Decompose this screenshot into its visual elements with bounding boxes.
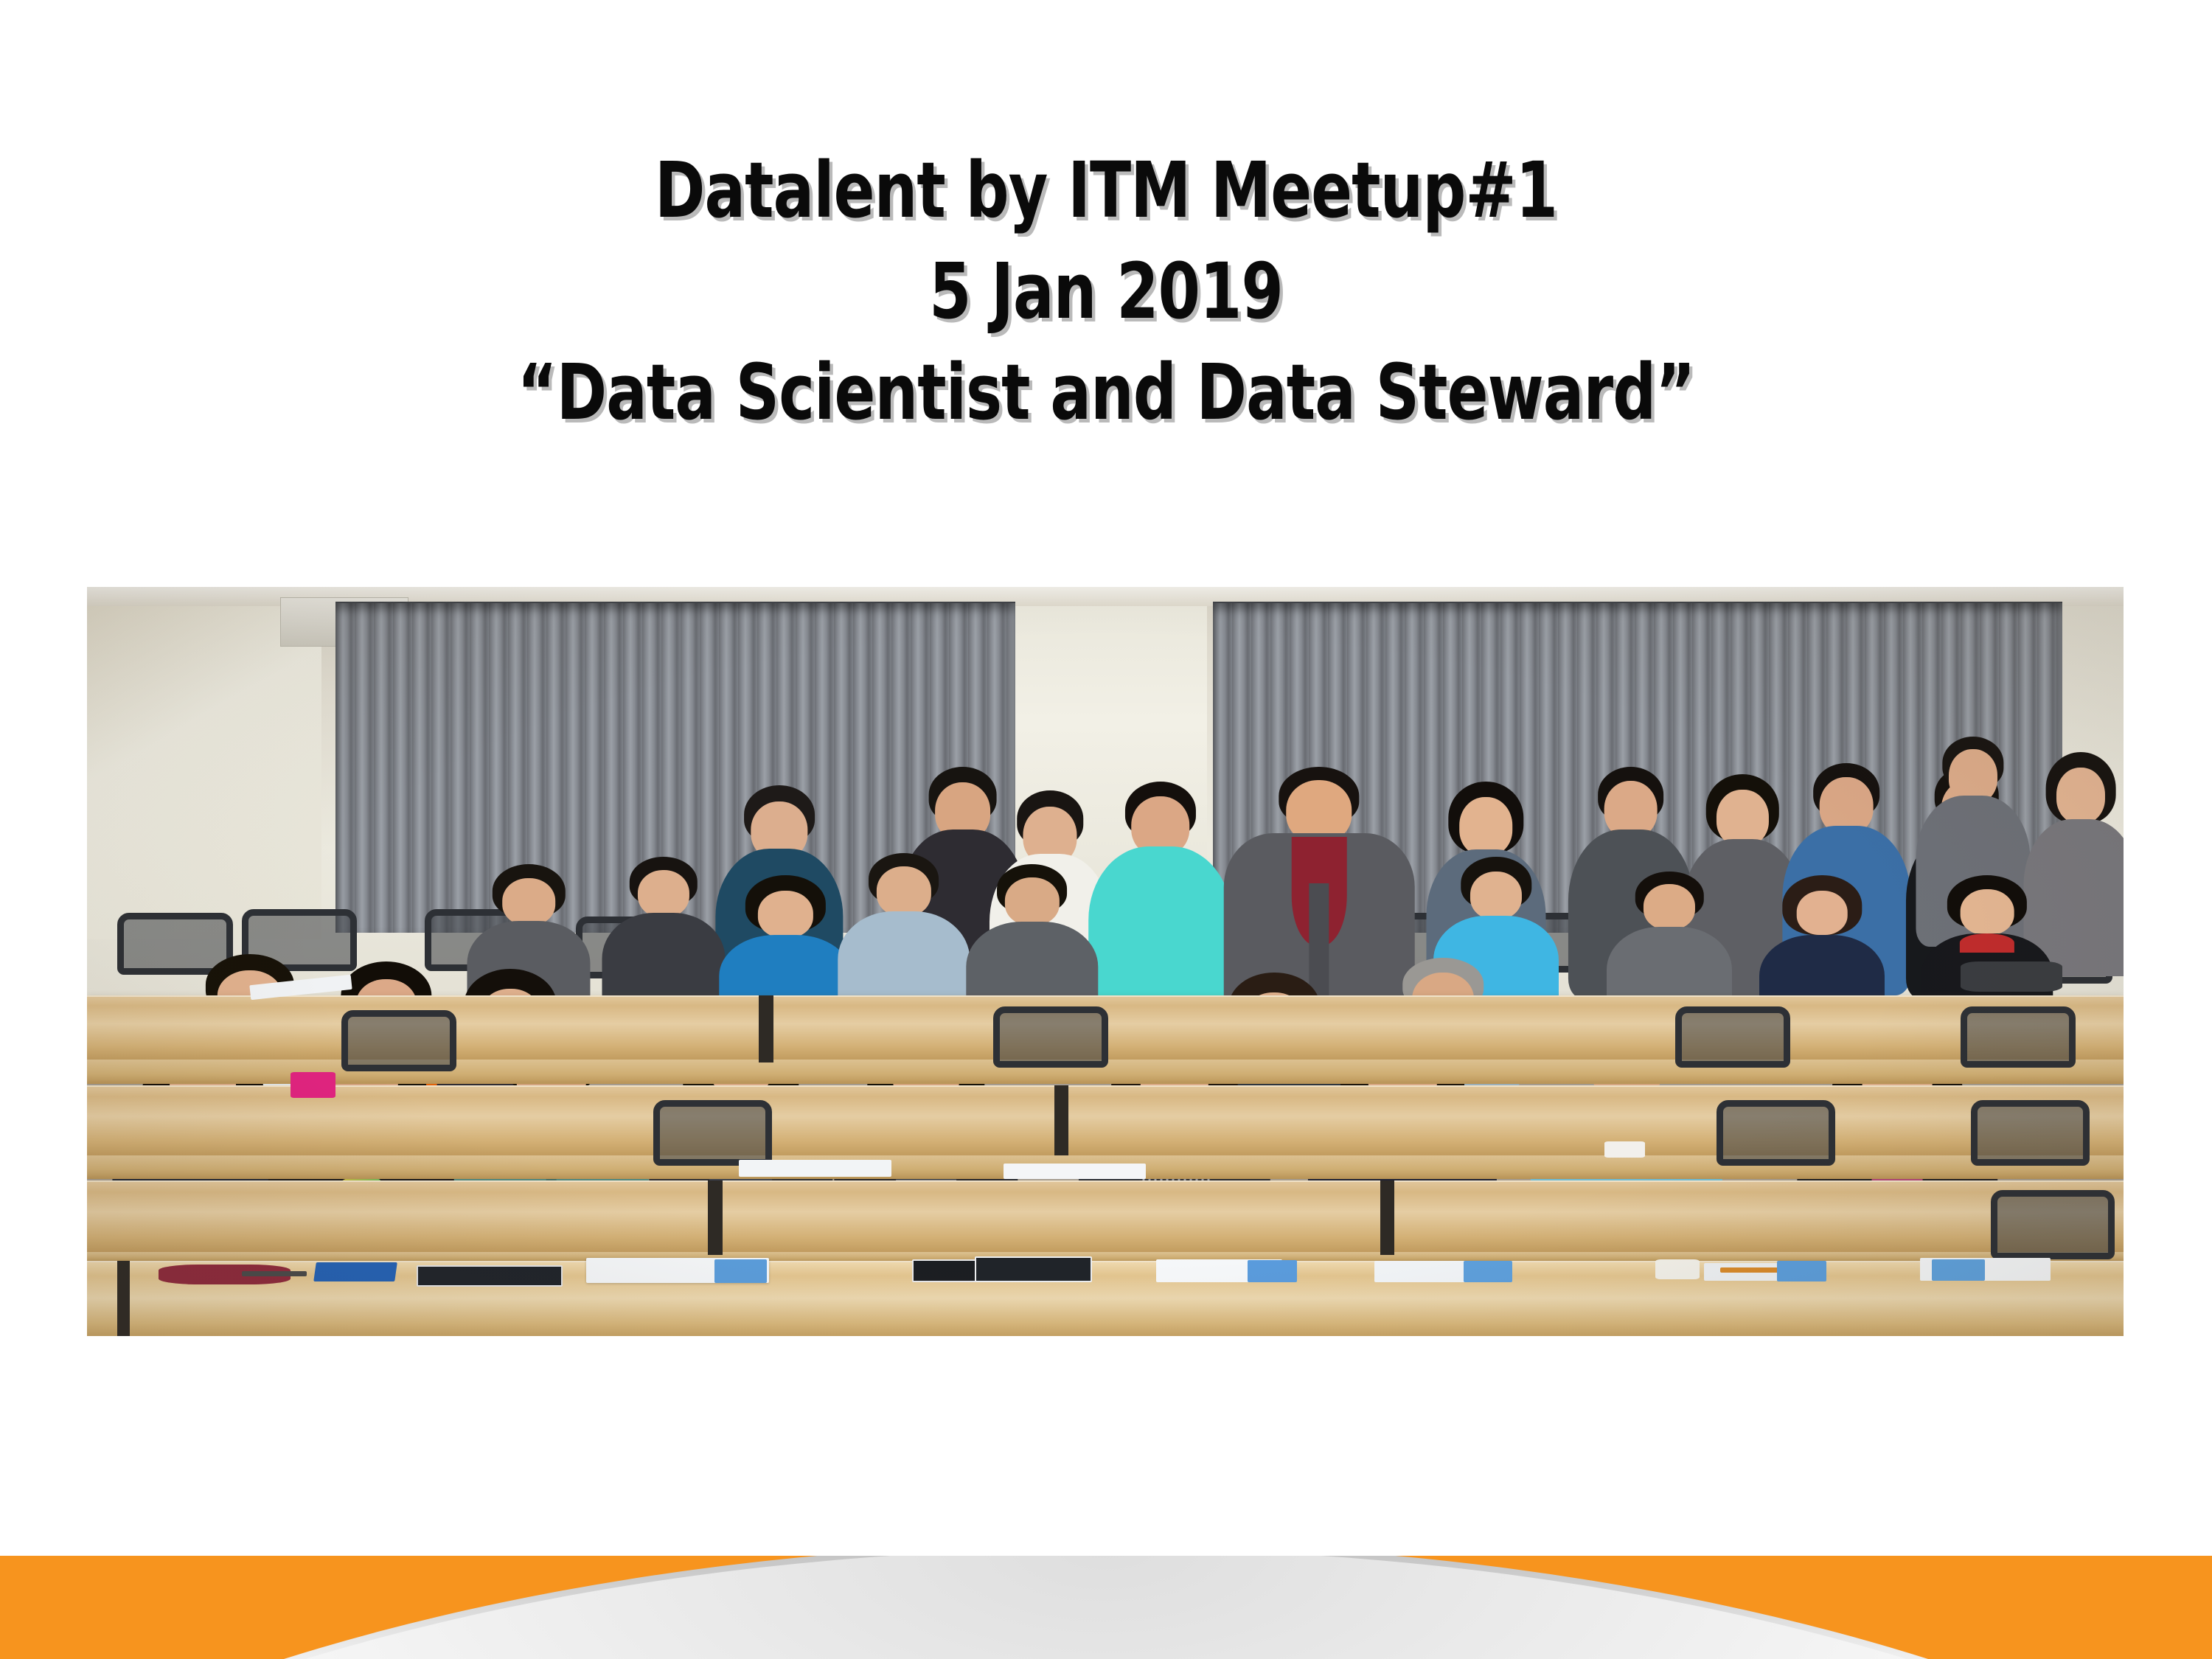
page-title: Datalent by ITM Meetup#1 5 Jan 2019 “Dat… [0,140,2212,443]
bottom-left-orange-block [0,1607,190,1659]
bottom-arc-gradient [0,1548,2212,1659]
title-line-3: “Data Scientist and Data Steward” [133,342,2079,443]
group-photo [87,587,2124,1336]
title-line-2: 5 Jan 2019 [133,241,2079,342]
title-line-1: Datalent by ITM Meetup#1 [133,140,2079,241]
group-photo-scene [87,587,2124,1336]
slide-canvas: Datalent by ITM Meetup#1 5 Jan 2019 “Dat… [0,0,2212,1659]
photo-vignette [87,587,2124,1336]
